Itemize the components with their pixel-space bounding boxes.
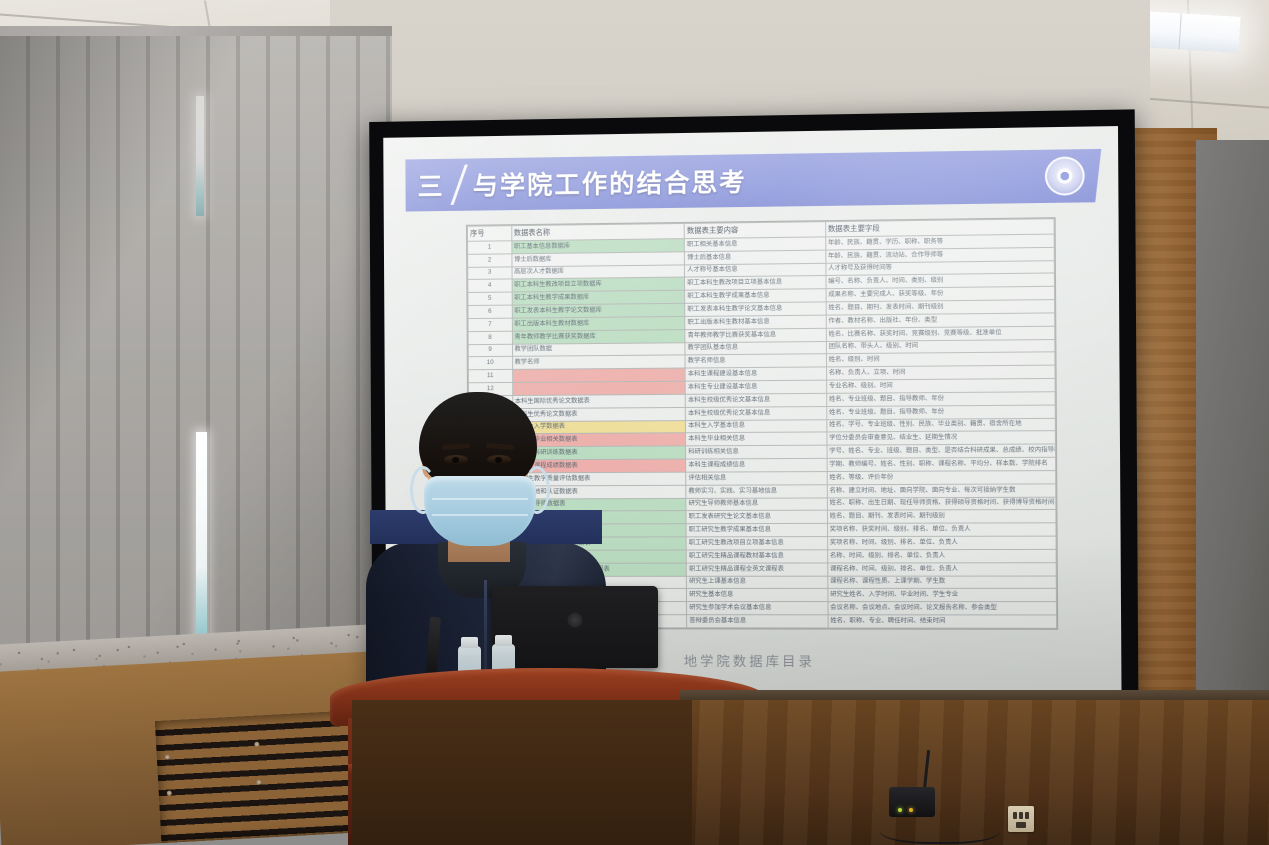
table-cell: 6 <box>468 305 512 318</box>
bottle-cap <box>495 635 512 646</box>
wall-power-outlet[interactable] <box>1008 806 1034 832</box>
table-cell: 本科生校级优秀论文基本信息 <box>685 406 826 420</box>
table-cell: 职工研究生教改项目立项基本信息 <box>686 537 827 550</box>
table-cell: 研究生上课基本信息 <box>686 576 827 589</box>
jacket-zipper <box>484 580 487 676</box>
table-cell: 教学名师信息 <box>685 354 826 368</box>
face-mask <box>424 476 536 546</box>
table-cell <box>512 368 685 382</box>
table-cell: 名称、时间、级别、排名、单位、负责人 <box>827 549 1056 562</box>
bottle-cap <box>461 637 478 648</box>
table-cell: 姓名、题目、期刊、发表时间、期刊级别 <box>827 510 1056 524</box>
table-cell: 课程名称、时间、级别、排名、单位、负责人 <box>827 562 1056 575</box>
table-cell: 职工研究生教学成果基本信息 <box>686 524 827 537</box>
eye-right <box>487 455 511 464</box>
table-cell: 本科生校级优秀论文基本信息 <box>685 393 826 407</box>
slide-title: 与学院工作的结合思考 <box>473 162 747 202</box>
slide-header-bar: 三 与学院工作的结合思考 <box>405 149 1101 212</box>
table-cell: 3 <box>468 267 512 280</box>
table-cell: 职工发表研究生论文基本信息 <box>686 511 827 524</box>
table-cell: 9 <box>468 344 512 357</box>
table-cell: 姓名、学号、专业班级、性别、民族、毕业类别、籍贯、宿舍所在地 <box>826 418 1055 432</box>
eye-left <box>444 455 468 464</box>
table-cell: 11 <box>468 370 512 383</box>
table-cell: 本科生课程成绩信息 <box>686 458 827 472</box>
table-cell: 姓名、职称、出生日期、现任导师资格、获得硕导资格时间、获得博导资格时间 <box>827 497 1056 511</box>
table-cell: 2 <box>468 254 512 267</box>
table-cell: 研究生姓名、入学时间、毕业时间、学生专业 <box>827 589 1056 602</box>
table-column-header: 序号 <box>467 226 511 242</box>
table-cell: 职工研究生精品课程教材基本信息 <box>686 550 827 563</box>
table-cell: 教学团队基本信息 <box>685 341 826 355</box>
table-cell: 5 <box>468 292 512 305</box>
table-cell: 本科生专业建设基本信息 <box>685 380 826 394</box>
university-seal-icon <box>1045 156 1085 195</box>
table-cell: 学期、教师编号、姓名、性别、职称、课程名称、平均分、样本数、学院排名 <box>827 457 1056 471</box>
table-cell: 姓名、专业班级、题目、指导教师、年份 <box>826 405 1055 420</box>
table-cell: 本科生入学基本信息 <box>685 419 826 433</box>
table-cell: 10 <box>468 357 512 370</box>
table-cell: 本科生毕业相关信息 <box>686 432 827 446</box>
table-cell: 4 <box>468 279 512 292</box>
table-cell: 1 <box>468 241 512 254</box>
table-cell: 奖项名称、时间、级别、排名、单位、负责人 <box>827 536 1056 549</box>
table-cell: 本科生课程建设基本信息 <box>685 367 826 381</box>
table-cell: 评估相关信息 <box>686 471 827 485</box>
table-cell: 学位分委员会审查意见、结业生、延期生情况 <box>827 431 1056 445</box>
table-cell: 教师实习、实践、实习基地信息 <box>686 484 827 498</box>
lower-wall-shadowed <box>352 700 692 845</box>
table-cell: 8 <box>468 331 512 344</box>
table-cell: 课程名称、课程性质、上课学期、学生数 <box>827 576 1056 589</box>
table-column-header: 数据表主要内容 <box>684 222 825 239</box>
table-cell: 研究生参加学术会议基本信息 <box>687 602 828 615</box>
table-cell: 青年教师教学比赛获奖基本信息 <box>685 328 826 342</box>
table-cell: 研究生导师教师基本信息 <box>686 498 827 511</box>
table-cell: 职工出版本科生教材基本信息 <box>685 315 826 329</box>
curtain-shadow <box>0 36 392 676</box>
table-cell: 职工研究生精品课程全英文课程表 <box>686 563 827 576</box>
table-cell: 职工发表本科生教学论文基本信息 <box>685 302 826 316</box>
slide-section-number: 三 <box>405 167 455 204</box>
table-cell: 科研训练相关信息 <box>686 445 827 459</box>
table-cell: 7 <box>468 318 512 331</box>
presenter-hair <box>419 392 537 488</box>
table-cell: 奖项名称、获奖时间、级别、排名、单位、负责人 <box>827 523 1056 537</box>
table-cell: 姓名、职称、专业、聘任时间、结束时间 <box>828 615 1057 628</box>
table-cell: 研究生基本信息 <box>687 589 828 602</box>
wireless-access-point <box>889 787 935 817</box>
lecture-room-photo: 三 与学院工作的结合思考 序号数据表名称数据表主要内容数据表主要字段 1职工基本… <box>0 0 1269 845</box>
table-cell: 学号、姓名、专业、班级、题目、类型、是否结合科研成果、总成绩、校内指导教师 <box>827 444 1056 458</box>
table-cell: 名称、建立时间、地址、面向学院、面向专业、每次可接纳学生数 <box>827 484 1056 498</box>
table-cell: 姓名、等级、评价年份 <box>827 470 1056 484</box>
laptop <box>492 586 658 668</box>
table-cell: 会议名称、会议地点、会议时间、论文报告名称、参会类型 <box>828 602 1057 615</box>
table-cell: 答辩委员会基本信息 <box>687 615 828 628</box>
